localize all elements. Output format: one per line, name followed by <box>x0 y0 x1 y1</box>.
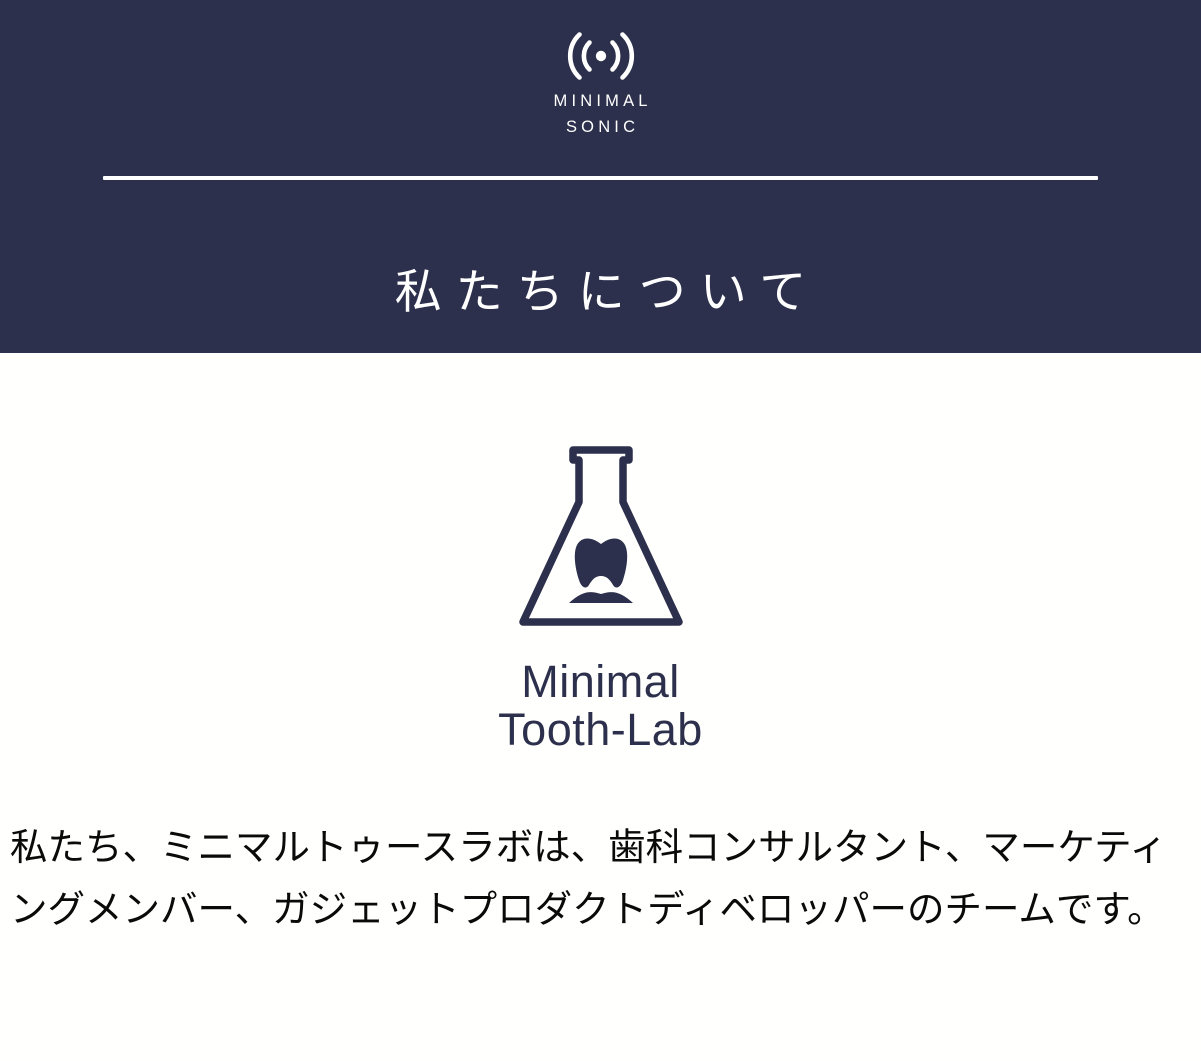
main-content: Minimal Tooth-Lab 私たち、ミニマルトゥースラボは、歯科コンサル… <box>0 353 1201 940</box>
flask-with-tooth-icon <box>511 440 691 640</box>
lab-identity-card: Minimal Tooth-Lab <box>0 353 1201 754</box>
broadcast-signal-icon <box>556 30 646 82</box>
lab-name-line-2: Tooth-Lab <box>441 706 761 754</box>
lab-name: Minimal Tooth-Lab <box>441 658 761 754</box>
page-title: 私たちについて <box>0 253 1201 322</box>
brand-name-line-1: MINIMAL <box>0 88 1201 114</box>
lab-name-line-1: Minimal <box>441 658 761 706</box>
about-paragraph: 私たち、ミニマルトゥースラボは、歯科コンサルタント、マーケティングメンバー、ガジ… <box>0 816 1201 940</box>
brand-logo-block[interactable]: MINIMAL SONIC <box>0 30 1201 140</box>
brand-name-line-2: SONIC <box>0 114 1201 140</box>
header-divider <box>103 176 1098 180</box>
site-header: MINIMAL SONIC 私たちについて <box>0 0 1201 353</box>
